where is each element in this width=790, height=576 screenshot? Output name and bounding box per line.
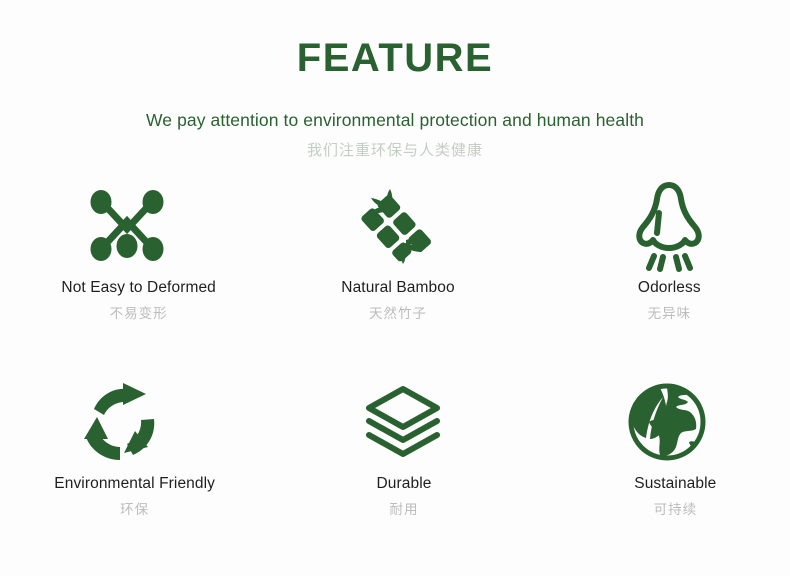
feature-label-en: Not Easy to Deformed xyxy=(61,278,215,298)
subtitle-chinese: 我们注重环保与人类健康 xyxy=(0,140,790,162)
feature-label-cn: 无异味 xyxy=(648,304,692,324)
nose-icon xyxy=(632,178,706,274)
feature-label-cn: 环保 xyxy=(120,500,149,520)
layers-stack-icon xyxy=(363,374,443,470)
feature-grid: Not Easy to Deformed 不易变形 xyxy=(0,178,790,570)
feature-section: FEATURE We pay attention to environmenta… xyxy=(0,0,790,576)
feature-label-en: Environmental Friendly xyxy=(54,474,215,494)
feature-label-cn: 耐用 xyxy=(389,500,418,520)
feature-label-en: Odorless xyxy=(638,278,701,298)
feature-item-odorless: Odorless 无异味 xyxy=(527,178,790,374)
feature-item-not-easy-to-deformed: Not Easy to Deformed 不易变形 xyxy=(0,178,263,374)
globe-leaf-icon xyxy=(623,374,707,470)
feature-label-cn: 天然竹子 xyxy=(369,304,427,324)
bamboo-icon xyxy=(357,178,435,274)
feature-label-en: Natural Bamboo xyxy=(341,278,454,298)
feature-item-sustainable: Sustainable 可持续 xyxy=(527,374,790,570)
molecule-cross-icon xyxy=(89,178,165,274)
feature-item-natural-bamboo: Natural Bamboo 天然竹子 xyxy=(263,178,526,374)
feature-label-cn: 不易变形 xyxy=(110,304,168,324)
feature-item-environmental-friendly: Environmental Friendly 环保 xyxy=(0,374,263,570)
feature-item-durable: Durable 耐用 xyxy=(263,374,526,570)
recycle-icon xyxy=(82,374,164,470)
page-title: FEATURE xyxy=(0,34,790,82)
feature-label-en: Sustainable xyxy=(634,474,716,494)
subtitle-english: We pay attention to environmental protec… xyxy=(0,108,790,132)
section-header: FEATURE We pay attention to environmenta… xyxy=(0,34,790,162)
feature-label-en: Durable xyxy=(377,474,432,494)
feature-label-cn: 可持续 xyxy=(654,500,698,520)
